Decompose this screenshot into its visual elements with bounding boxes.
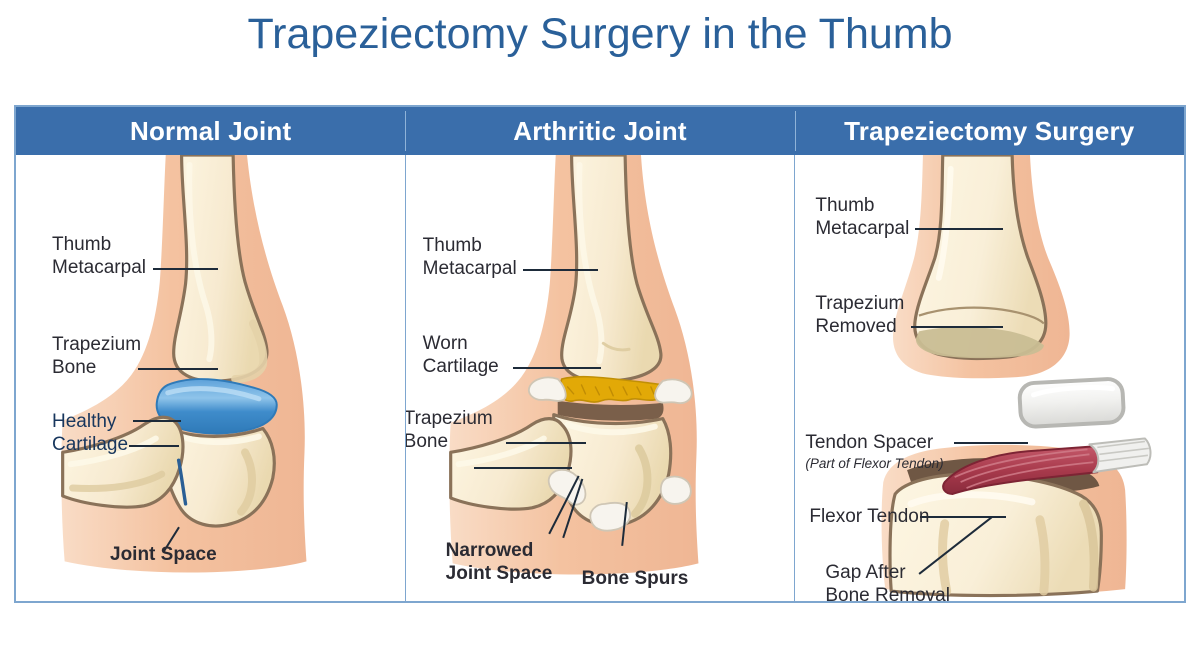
bone-spur-lower-right <box>660 477 690 504</box>
label-line: Bone Removal <box>825 585 950 601</box>
label-line: Thumb <box>423 235 482 256</box>
panel-header-bar: Normal Joint Arthritic Joint Trapeziecto… <box>16 107 1184 155</box>
label-line: Removed <box>815 316 896 337</box>
label-line: Metacarpal <box>815 218 909 239</box>
panel-body: Thumb Metacarpal Trapezium Bone Healthy … <box>16 155 1184 601</box>
leader-trapezium-bone <box>138 368 218 370</box>
label-line: Bone <box>52 357 96 378</box>
leader-thumb-metacarpal <box>523 269 598 271</box>
panel-header-arthritic-joint: Arthritic Joint <box>405 107 794 155</box>
leader-tendon-spacer <box>954 442 1028 444</box>
label-joint-space: Joint Space <box>110 543 217 566</box>
bone-spur-upper-left <box>529 377 566 401</box>
label-gap-after-bone-removal: Gap After Bone Removal <box>825 561 950 601</box>
label-line: Metacarpal <box>52 257 146 278</box>
label-line: Worn <box>423 333 468 354</box>
leader-thumb-metacarpal <box>915 228 1003 230</box>
leader-trapezium-removed <box>911 326 1003 328</box>
tendon-spacer-group <box>1019 378 1124 427</box>
label-line: Joint Space <box>446 563 553 584</box>
label-line: Trapezium <box>815 293 904 314</box>
bone-trabecula-right <box>1040 520 1045 591</box>
panel-trapeziectomy-surgery: Thumb Metacarpal Trapezium Removed Tendo… <box>794 155 1184 601</box>
label-line: Thumb <box>52 234 111 255</box>
label-thumb-metacarpal: Thumb Metacarpal <box>52 233 146 279</box>
label-tendon-spacer: Tendon Spacer (Part of Flexor Tendon) <box>805 431 943 473</box>
label-narrowed-joint-space: Narrowed Joint Space <box>446 539 553 585</box>
panel-header-normal-joint: Normal Joint <box>16 107 405 155</box>
panel-normal-joint: Thumb Metacarpal Trapezium Bone Healthy … <box>16 155 405 601</box>
label-worn-cartilage: Worn Cartilage <box>423 332 499 378</box>
label-line: Metacarpal <box>423 258 517 279</box>
label-flexor-tendon: Flexor Tendon <box>809 505 929 528</box>
panel-arthritic-joint: Thumb Metacarpal Worn Cartilage Trapeziu… <box>405 155 795 601</box>
leader-flexor-tendon <box>920 516 1006 518</box>
label-line: Narrowed <box>446 540 534 561</box>
label-thumb-metacarpal: Thumb Metacarpal <box>815 194 909 240</box>
label-line: Healthy <box>52 411 116 432</box>
label-bone-spurs: Bone Spurs <box>582 567 689 590</box>
leader-healthy-cartilage <box>133 420 181 422</box>
page-title: Trapeziectomy Surgery in the Thumb <box>0 10 1200 59</box>
label-line: Gap After <box>825 562 905 583</box>
tendon-spacer-shape <box>1019 378 1124 427</box>
tendon-spacer-note: (Part of Flexor Tendon) <box>805 455 943 473</box>
top-subfigure <box>893 155 1070 378</box>
leader-trapezium-bone-2 <box>474 467 572 469</box>
diagram-frame: Normal Joint Arthritic Joint Trapeziecto… <box>14 105 1186 603</box>
bone-spur-upper-right <box>655 379 691 403</box>
leader-thumb-metacarpal <box>153 268 218 270</box>
label-trapezium-bone: Trapezium Bone <box>405 407 493 453</box>
label-line: Trapezium <box>52 334 141 355</box>
leader-trapezium-bone <box>506 442 586 444</box>
label-line: Cartilage <box>52 434 128 455</box>
leader-worn-cartilage <box>513 367 601 369</box>
label-line: Tendon Spacer <box>805 432 933 453</box>
label-thumb-metacarpal: Thumb Metacarpal <box>423 234 517 280</box>
label-line: Bone <box>405 431 448 452</box>
leader-healthy-cartilage-2 <box>129 445 179 447</box>
panel-header-trapeziectomy-surgery: Trapeziectomy Surgery <box>795 107 1184 155</box>
label-line: Trapezium <box>405 408 493 429</box>
tendon-graft-white-end <box>1090 438 1151 472</box>
label-trapezium-removed: Trapezium Removed <box>815 292 904 338</box>
label-trapezium-bone: Trapezium Bone <box>52 333 141 379</box>
label-line: Thumb <box>815 195 874 216</box>
label-line: Cartilage <box>423 356 499 377</box>
label-healthy-cartilage: Healthy Cartilage <box>52 410 128 456</box>
